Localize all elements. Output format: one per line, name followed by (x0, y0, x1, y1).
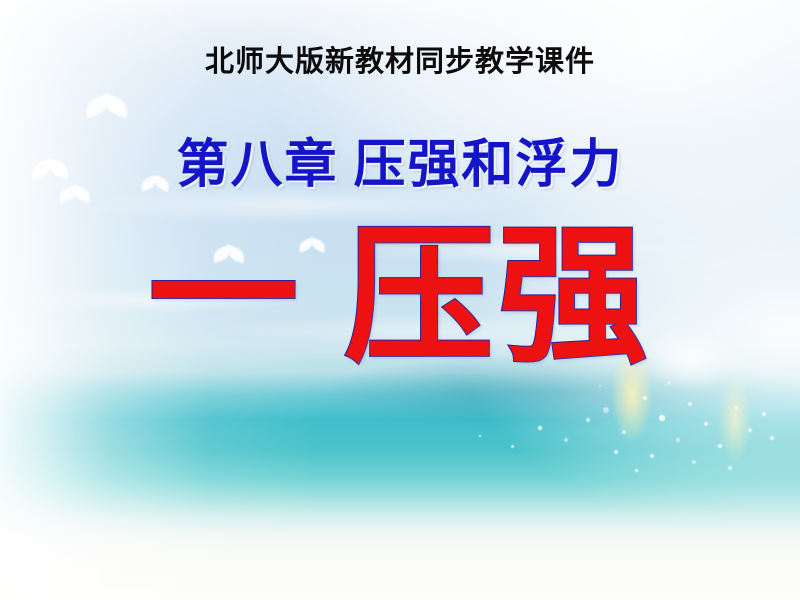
sparkle-dot (538, 426, 542, 430)
sparkle-dot (603, 407, 609, 413)
sparkle-dot (692, 460, 695, 463)
sparkle-dot (704, 422, 709, 427)
sparkle-dot (599, 385, 602, 388)
sparkle-dot (622, 430, 626, 434)
sparkle-dot (688, 402, 691, 405)
presentation-slide: 北师大版新教材同步教学课件 第八章 压强和浮力 一 压强 (0, 0, 800, 600)
sparkle-dot (676, 438, 680, 442)
sparkle-dot (770, 436, 773, 439)
sparkle-dot (614, 450, 618, 454)
sparkle-dot (748, 428, 751, 431)
sparkle-dot (650, 454, 654, 458)
sparkle-dot (511, 445, 514, 448)
lesson-title: 一 压强 (0, 218, 800, 378)
sparkle-dot (667, 381, 670, 384)
sparkle-dot (734, 406, 738, 410)
sparkle-dot (479, 435, 482, 438)
sparkle-dot (635, 469, 638, 472)
sparkle-dot (728, 466, 732, 470)
publisher-subtitle: 北师大版新教材同步教学课件 (0, 38, 800, 80)
sparkle-dot (659, 415, 664, 420)
sparkle-dot (586, 418, 589, 421)
sparkle-dot (718, 444, 722, 448)
sparkle-dot (762, 412, 766, 416)
sparkle-dot (564, 438, 568, 442)
chapter-heading: 第八章 压强和浮力 (0, 122, 800, 197)
sparkle-dot (643, 396, 647, 400)
